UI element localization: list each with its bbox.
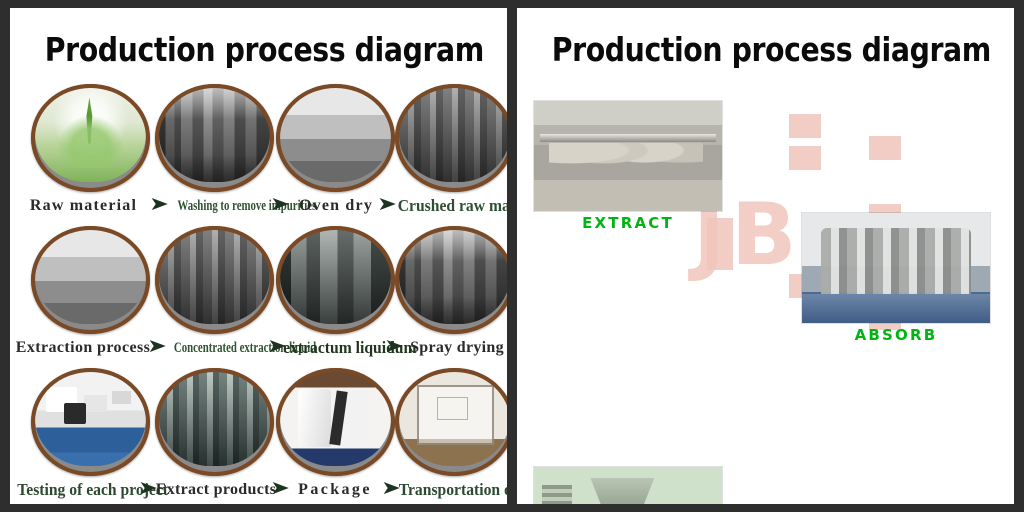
process-row-1: Raw material ➤ Washing to remove impurit…: [10, 84, 507, 220]
caption-concentrated-liquid: Concentrated extraction liquid: [174, 336, 266, 360]
process-step-washing[interactable]: [155, 84, 274, 192]
process-step-extract-products[interactable]: [155, 368, 274, 476]
caption-extract-products: Extract products: [150, 478, 282, 502]
left-panel: Production process diagram: [10, 8, 507, 504]
right-panel: Production process diagram JB EXTRACT AB…: [517, 8, 1014, 504]
circle-frame: [276, 368, 395, 476]
crushing-hall-photo: [399, 86, 507, 182]
circle-frame: [31, 84, 150, 192]
caption-package: Package: [285, 478, 385, 502]
washing-tanks-photo: [159, 86, 270, 182]
caption-oven-dry: Oven dry: [285, 194, 387, 218]
process-step-testing[interactable]: [31, 368, 150, 476]
process-step-spray-drying[interactable]: [395, 226, 507, 334]
panel-divider: [507, 0, 517, 512]
caption-extraction-process: Extraction process: [12, 336, 154, 360]
caption-transportation: Transportation delivery: [399, 478, 507, 502]
spray-dryer-photo: [399, 228, 507, 324]
concentrate-tanks-photo: [159, 228, 270, 324]
process-step-extraction[interactable]: [31, 226, 150, 334]
arrow-icon: ➤: [377, 194, 397, 218]
left-panel-title: Production process diagram: [45, 33, 472, 66]
process-row-1-captions: Raw material ➤ Washing to remove impurit…: [10, 194, 507, 218]
caption-spray-drying: Spray drying: [402, 336, 507, 360]
process-step-extractum[interactable]: [276, 226, 395, 334]
process-step-raw-material[interactable]: [31, 84, 150, 192]
evaporator-photo: [280, 228, 391, 324]
plant-extract-photo: [35, 86, 146, 182]
circle-frame: [395, 368, 507, 476]
flow-label-absorb: ABSORB: [801, 326, 991, 344]
process-step-concentrated[interactable]: [155, 226, 274, 334]
circle-frame: [155, 84, 274, 192]
screenshot-root: Production process diagram: [0, 0, 1024, 512]
circle-frame: [395, 226, 507, 334]
flow-grid: JB EXTRACT ABSORB SPARY DRIED: [517, 74, 1014, 504]
extraction-vessels-photo: [533, 100, 723, 212]
process-row-3: Testing of each project ➤ Extract produc…: [10, 368, 507, 504]
circle-frame: [276, 84, 395, 192]
process-step-package[interactable]: [276, 368, 395, 476]
circle-frame: [395, 84, 507, 192]
arrow-icon: ➤: [149, 194, 169, 218]
watermark-block: [869, 136, 901, 160]
watermark-block: [789, 146, 821, 170]
circle-frame: [31, 226, 150, 334]
pallet-shipping-photo: [399, 370, 507, 466]
caption-washing: Washing to remove impurities: [178, 194, 268, 218]
laboratory-bench-photo: [35, 370, 146, 466]
circle-frame: [31, 368, 150, 476]
process-row-3-captions: Testing of each project ➤ Extract produc…: [10, 478, 507, 502]
flow-cell-absorb[interactable]: ABSORB: [801, 212, 991, 324]
caption-crushed: Crushed raw materials: [398, 194, 507, 218]
watermark-block: [789, 114, 821, 138]
flow-label-extract: EXTRACT: [533, 214, 723, 232]
oven-dryer-photo: [280, 86, 391, 182]
arrow-icon: ➤: [384, 336, 404, 360]
absorption-columns-photo: [801, 212, 991, 324]
caption-raw-material: Raw material: [16, 194, 151, 218]
process-step-transportation[interactable]: [395, 368, 507, 476]
product-cans-photo: [159, 370, 270, 466]
extraction-plant-photo: [35, 228, 146, 324]
process-step-crushed[interactable]: [395, 84, 507, 192]
circle-frame: [155, 226, 274, 334]
process-row-2-captions: Extraction process ➤ Concentrated extrac…: [10, 336, 507, 360]
circle-frame: [155, 368, 274, 476]
flow-cell-spary-dried[interactable]: SPARY DRIED: [533, 466, 723, 504]
process-step-oven-dry[interactable]: [276, 84, 395, 192]
process-row-2: Extraction process ➤ Concentrated extrac…: [10, 226, 507, 362]
spray-drying-tower-photo: [533, 466, 723, 504]
caption-testing: Testing of each project: [17, 478, 138, 502]
packaging-bags-photo: [280, 370, 391, 466]
right-panel-title: Production process diagram: [552, 33, 979, 66]
circle-frame: [276, 226, 395, 334]
flow-cell-extract[interactable]: EXTRACT: [533, 100, 723, 212]
arrow-icon: ➤: [147, 336, 167, 360]
